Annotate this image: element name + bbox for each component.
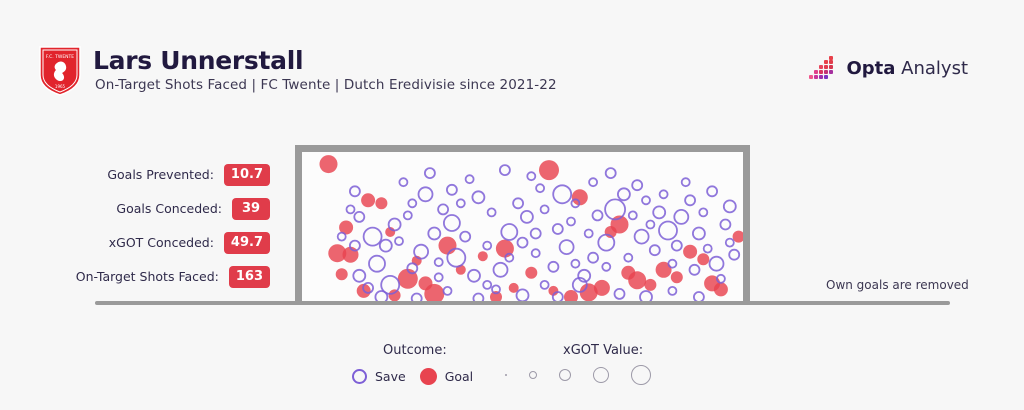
shot-marker-save: [438, 204, 448, 214]
stat-row-goals-conceded: Goals Conceded: 39: [70, 194, 270, 223]
visualization-canvas: F.C. TWENTE 1965 Lars Unnerstall On-Targ…: [0, 0, 1024, 410]
shot-marker-save: [501, 224, 517, 240]
shot-marker-save: [419, 187, 433, 201]
shot-marker-goal: [697, 253, 709, 265]
shot-marker-save: [650, 245, 660, 255]
shot-marker-save: [560, 240, 574, 254]
shot-marker-save: [527, 172, 535, 180]
shot-marker-save: [588, 253, 598, 263]
shot-marker-goal: [683, 245, 697, 259]
shot-marker-save: [707, 186, 717, 196]
shot-marker-save: [408, 199, 416, 207]
shot-marker-goal: [320, 155, 338, 173]
legend-size-scale: [505, 360, 651, 390]
legend-goal-swatch-icon: [420, 368, 437, 385]
legend-size-circle: [593, 367, 609, 383]
shot-marker-save: [699, 208, 707, 216]
shot-marker-save: [660, 190, 668, 198]
shot-marker-save: [347, 205, 355, 213]
shot-marker-save: [444, 287, 452, 295]
shot-marker-save: [635, 230, 649, 244]
shot-marker-save: [548, 262, 558, 272]
shot-marker-goal: [389, 289, 401, 301]
stat-label: Goals Prevented:: [107, 167, 214, 182]
legend-size-circle: [559, 369, 571, 381]
shot-marker-goal: [336, 268, 348, 280]
shot-marker-goal: [525, 267, 537, 279]
shot-marker-save: [589, 178, 597, 186]
page-subtitle: On-Target Shots Faced | FC Twente | Dutc…: [95, 77, 557, 93]
shot-marker-goal: [539, 160, 559, 180]
opta-wordmark: Opta Analyst: [847, 58, 969, 79]
shot-marker-save: [531, 229, 541, 239]
chart-legend: Outcome: xGOT Value: Save Goal: [0, 338, 1024, 398]
shot-marker-save: [571, 260, 579, 268]
shot-marker-save: [585, 230, 593, 238]
shot-marker-goal: [714, 282, 728, 296]
shot-marker-save: [541, 281, 549, 289]
shot-marker-save: [720, 220, 730, 230]
shot-marker-save: [553, 224, 563, 234]
stat-label: On-Target Shots Faced:: [76, 269, 219, 284]
shot-marker-save: [618, 188, 630, 200]
shot-marker-goal: [478, 251, 488, 261]
legend-size-circle: [529, 371, 537, 379]
goal-mouth: [302, 152, 743, 303]
shot-marker-save: [729, 250, 739, 260]
shot-marker-save: [447, 185, 457, 195]
shot-marker-save: [395, 237, 403, 245]
shot-marker-goal: [361, 193, 375, 207]
shot-marker-goal: [671, 271, 683, 283]
shot-marker-save: [460, 232, 470, 242]
legend-size-circle: [631, 365, 651, 385]
shot-marker-save: [500, 165, 510, 175]
shot-marker-save: [483, 281, 491, 289]
shot-marker-save: [354, 212, 364, 222]
shot-marker-goal: [375, 197, 387, 209]
annotation-text: Own goals are removed: [826, 278, 969, 292]
shot-marker-goal: [580, 283, 598, 301]
shot-marker-save: [389, 219, 401, 231]
shot-marker-save: [624, 254, 632, 262]
stat-row-shots-faced: On-Target Shots Faced: 163: [70, 262, 270, 291]
shot-marker-save: [399, 178, 407, 186]
shot-marker-save: [690, 265, 700, 275]
shot-marker-save: [428, 228, 440, 240]
summary-stats: Goals Prevented: 10.7 Goals Conceded: 39…: [70, 160, 270, 296]
shot-marker-save: [668, 287, 676, 295]
shot-marker-save: [726, 239, 734, 247]
shot-marker-save: [466, 175, 474, 183]
opta-brand-bold: Opta: [847, 58, 896, 79]
stat-badge: 163: [229, 266, 270, 288]
legend-outcome-items: Save Goal: [352, 368, 479, 385]
fc-twente-crest: F.C. TWENTE 1965: [38, 44, 82, 96]
shot-marker-save: [602, 263, 610, 271]
shot-marker-save: [606, 168, 616, 178]
legend-goal-label: Goal: [445, 369, 473, 384]
shot-marker-goal: [628, 271, 646, 289]
shot-marker-save: [693, 228, 705, 240]
legend-size-circle: [505, 374, 507, 376]
shot-marker-save: [521, 211, 533, 223]
shot-marker-save: [553, 185, 571, 203]
shot-marker-save: [593, 210, 603, 220]
shot-marker-save: [704, 245, 712, 253]
stat-badge: 39: [232, 198, 270, 220]
stat-label: xGOT Conceded:: [109, 235, 214, 250]
stat-row-xgot-conceded: xGOT Conceded: 49.7: [70, 228, 270, 257]
ground-line: [95, 301, 950, 305]
shot-marker-save: [472, 191, 484, 203]
shot-marker-save: [615, 289, 625, 299]
shot-marker-save: [518, 238, 528, 248]
shot-marker-save: [668, 260, 676, 268]
shot-marker-goal: [439, 237, 457, 255]
shot-marker-save: [338, 233, 346, 241]
shot-marker-save: [435, 273, 443, 281]
shot-marker-save: [380, 240, 392, 252]
shot-marker-save: [532, 249, 540, 257]
shot-marker-save: [468, 270, 480, 282]
stat-label: Goals Conceded:: [116, 201, 222, 216]
shot-marker-save: [682, 178, 690, 186]
shot-marker-save: [369, 256, 385, 272]
shot-marker-save: [435, 258, 443, 266]
shot-marker-save: [659, 222, 677, 240]
shot-marker-save: [488, 208, 496, 216]
legend-outcome-title: Outcome:: [383, 343, 447, 358]
shot-marker-save: [444, 215, 460, 231]
shot-marker-save: [536, 184, 544, 192]
svg-text:F.C. TWENTE: F.C. TWENTE: [46, 54, 74, 60]
shot-marker-save: [364, 228, 382, 246]
shot-marker-save: [541, 205, 549, 213]
shot-marker-save: [672, 241, 682, 251]
opta-brand-light: Analyst: [895, 58, 968, 79]
shot-marker-save: [632, 180, 642, 190]
shot-marker-save: [653, 206, 665, 218]
opta-mark-icon: [809, 56, 839, 80]
shot-marker-save: [404, 211, 412, 219]
shot-marker-save: [483, 242, 491, 250]
shot-marker-save: [685, 195, 695, 205]
legend-save-swatch-icon: [352, 369, 367, 384]
shot-marker-save: [353, 270, 365, 282]
shot-marker-save: [414, 245, 428, 259]
shot-marker-save: [457, 199, 465, 207]
shot-marker-goal: [644, 279, 656, 291]
opta-analyst-logo: Opta Analyst: [809, 56, 969, 80]
shot-markers: [302, 152, 743, 303]
page-title: Lars Unnerstall: [93, 46, 303, 75]
legend-save-label: Save: [375, 369, 406, 384]
shot-marker-save: [517, 289, 529, 301]
shot-marker-save: [425, 168, 435, 178]
shot-marker-save: [494, 263, 508, 277]
shot-marker-save: [513, 198, 523, 208]
shot-marker-save: [629, 211, 637, 219]
shot-marker-save: [642, 196, 650, 204]
shot-marker-save: [674, 210, 688, 224]
shot-marker-save: [646, 221, 654, 229]
shot-marker-save: [724, 200, 736, 212]
stat-row-goals-prevented: Goals Prevented: 10.7: [70, 160, 270, 189]
shot-marker-save: [598, 235, 614, 251]
shot-marker-save: [605, 199, 625, 219]
shot-marker-save: [710, 257, 724, 271]
shot-marker-save: [350, 186, 360, 196]
goal-scatter-plot: [295, 145, 750, 303]
shot-marker-save: [567, 218, 575, 226]
svg-text:1965: 1965: [55, 84, 66, 89]
legend-xgot-title: xGOT Value:: [563, 343, 643, 358]
stat-badge: 49.7: [224, 232, 270, 254]
shot-marker-save: [447, 249, 465, 267]
stat-badge: 10.7: [224, 164, 270, 186]
